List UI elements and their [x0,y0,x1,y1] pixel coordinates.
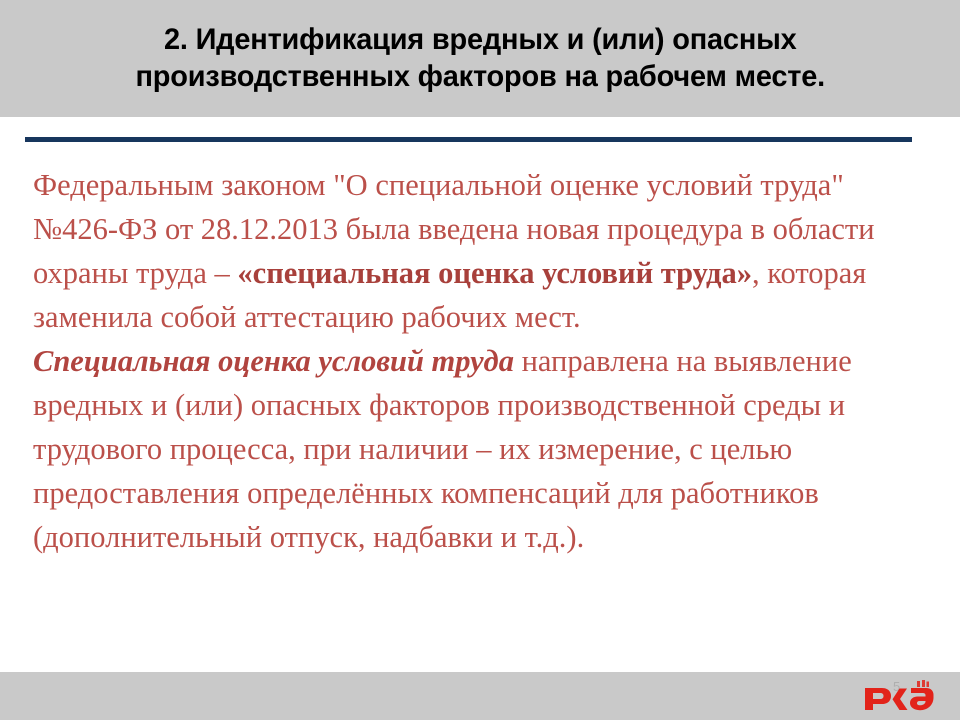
slide-body: Федеральным законом "О специальной оценк… [33,163,933,559]
slide-header-band: 2. Идентификация вредных и (или) опасных… [0,0,960,117]
body-paragraph-1: Федеральным законом "О специальной оценк… [33,163,933,339]
rzd-logo [862,677,934,715]
page-title: 2. Идентификация вредных и (или) опасных… [135,22,825,95]
paragraph-2-emphasis: Специальная оценка условий труда [33,344,514,378]
page-title-line-2: производственных факторов на рабочем мес… [135,60,825,93]
paragraph-1-emphasis: «специальная оценка условий труда» [237,256,752,290]
body-paragraph-2: Специальная оценка условий труда направл… [33,339,933,559]
slide-footer-band [0,672,960,720]
title-divider-rule [25,137,912,142]
presentation-slide: 2. Идентификация вредных и (или) опасных… [0,0,960,720]
page-title-line-1: 2. Идентификация вредных и (или) опасных [164,23,797,56]
